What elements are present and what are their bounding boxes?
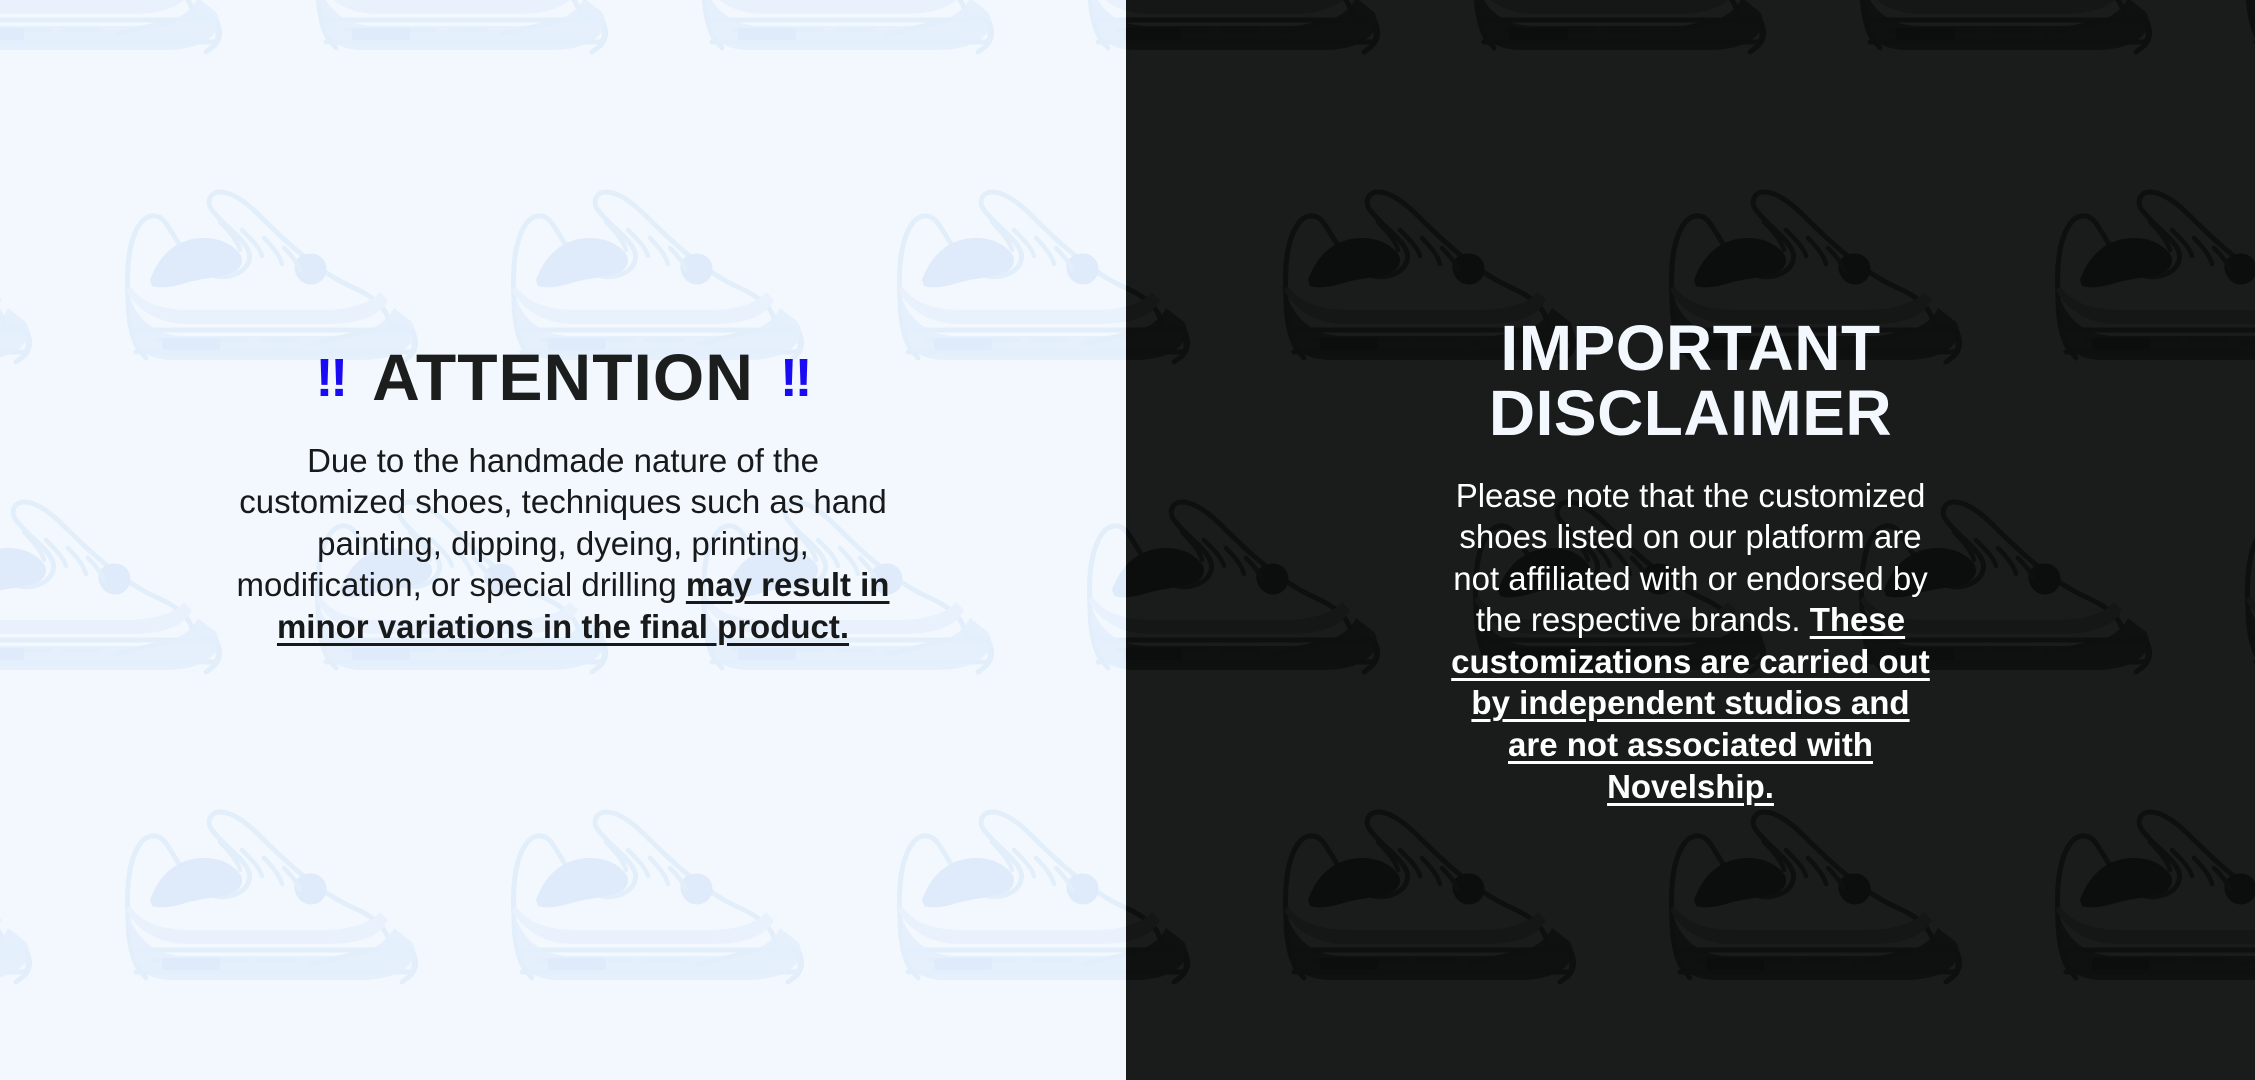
- disclaimer-heading: IMPORTANT DISCLAIMER: [1126, 316, 2255, 447]
- disclaimer-panel: IMPORTANT DISCLAIMER Please note that th…: [1126, 0, 2255, 1080]
- disclaimer-body: Please note that the customized shoes li…: [1126, 475, 2255, 808]
- disclaimer-heading-line-1: IMPORTANT: [1500, 312, 1880, 384]
- disclaimer-content: IMPORTANT DISCLAIMER Please note that th…: [1126, 316, 2255, 807]
- disclaimer-banner: ‼ATTENTION‼ Due to the handmade nature o…: [0, 0, 2255, 1080]
- attention-heading: ‼ATTENTION‼: [0, 345, 1126, 410]
- attention-panel: ‼ATTENTION‼ Due to the handmade nature o…: [0, 0, 1126, 1080]
- double-exclamation-left-icon: ‼: [316, 348, 347, 408]
- attention-heading-text: ATTENTION: [372, 340, 754, 414]
- disclaimer-heading-line-2: DISCLAIMER: [1489, 377, 1892, 449]
- attention-body: Due to the handmade nature of the custom…: [0, 440, 1126, 648]
- attention-content: ‼ATTENTION‼ Due to the handmade nature o…: [0, 345, 1126, 648]
- double-exclamation-right-icon: ‼: [780, 348, 811, 408]
